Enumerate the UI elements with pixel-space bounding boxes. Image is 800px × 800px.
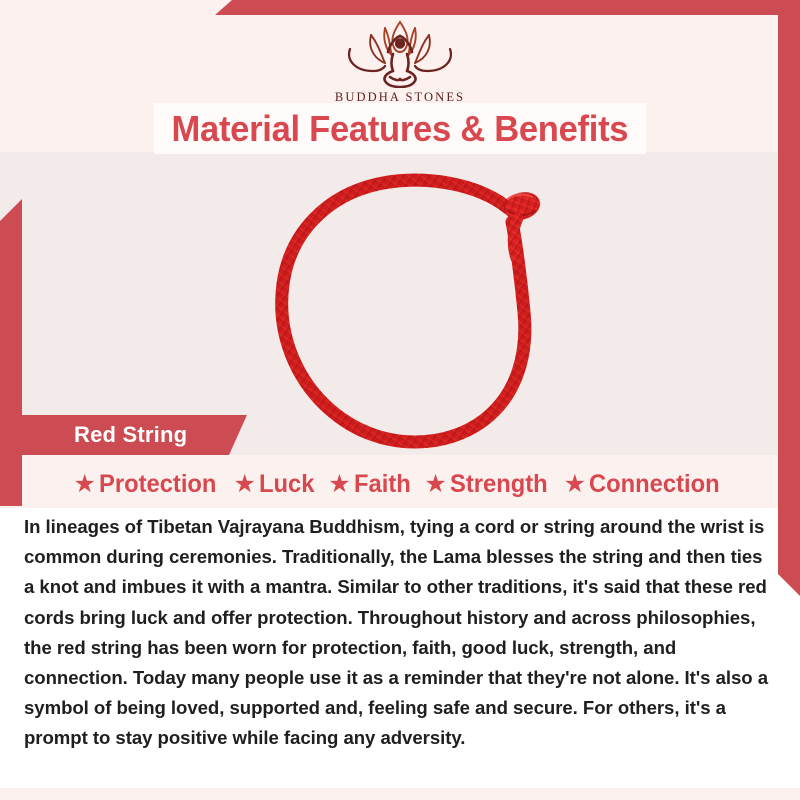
product-ribbon: Red String — [22, 415, 247, 455]
feature-item-protection: ★ Protection — [73, 470, 222, 499]
product-image-red-string-bracelet — [250, 166, 580, 458]
feature-list: ★ Protection ★ Luck ★ Faith ★ Strength ★… — [0, 465, 800, 503]
page-title: Material Features & Benefits — [172, 108, 629, 150]
star-icon: ★ — [328, 472, 350, 497]
star-icon: ★ — [73, 472, 95, 497]
feature-item-luck: ★ Luck — [223, 470, 318, 499]
star-icon: ★ — [424, 472, 446, 497]
infographic-page: BUDDHA STONES Material Features & Benefi… — [0, 0, 800, 800]
feature-item-strength: ★ Strength — [413, 470, 552, 499]
ribbon-label: Red String — [22, 422, 187, 448]
background-bottom-strip — [0, 788, 800, 800]
star-icon: ★ — [564, 472, 586, 497]
lotus-meditation-icon — [333, 16, 467, 88]
feature-label: Protection — [99, 470, 216, 499]
feature-label: Luck — [259, 470, 314, 499]
feature-item-faith: ★ Faith — [317, 470, 413, 499]
feature-label: Faith — [354, 470, 411, 499]
description-paragraph: In lineages of Tibetan Vajrayana Buddhis… — [24, 512, 776, 754]
feature-label: Strength — [450, 470, 548, 499]
feature-label: Connection — [589, 470, 720, 499]
decorative-top-band — [215, 0, 800, 15]
brand-logo: BUDDHA STONES — [0, 16, 800, 105]
feature-item-connection: ★ Connection — [553, 470, 727, 499]
title-banner: Material Features & Benefits — [154, 103, 646, 154]
star-icon: ★ — [234, 472, 256, 497]
decorative-left-band — [0, 199, 22, 506]
